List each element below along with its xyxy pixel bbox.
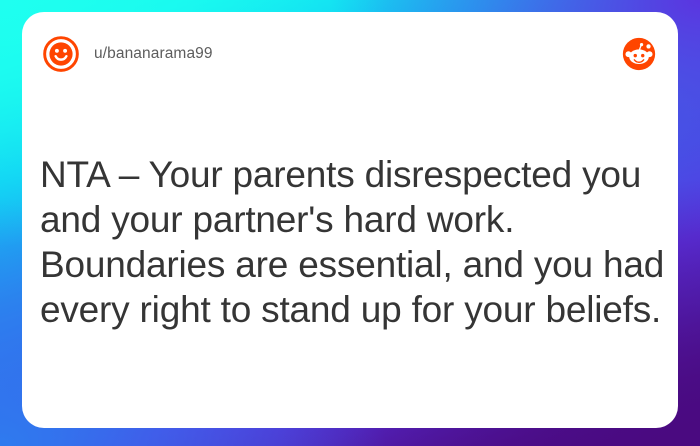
screenshot-canvas: u/bananarama99 NTA – Your parents disres… xyxy=(0,0,700,446)
username-label: u/bananarama99 xyxy=(94,45,213,63)
reddit-quote-card: u/bananarama99 NTA – Your parents disres… xyxy=(22,12,678,428)
post-text: NTA – Your parents disrespected you and … xyxy=(40,152,668,332)
card-header: u/bananarama99 xyxy=(22,12,678,96)
reddit-snoo-icon[interactable] xyxy=(622,37,656,71)
smiley-face-avatar-icon[interactable] xyxy=(42,35,80,73)
